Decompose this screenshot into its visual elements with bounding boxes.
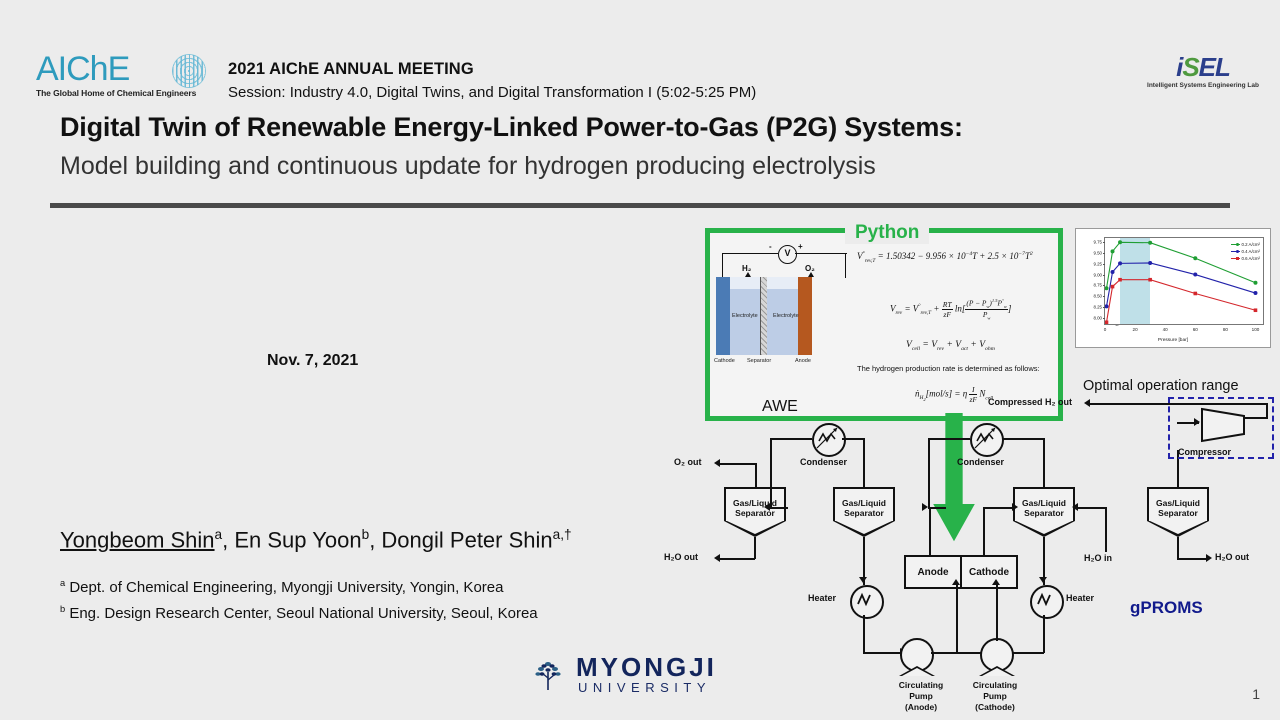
chart-xtick: 100 bbox=[1252, 327, 1260, 332]
chart-xlabel: Pressure [bar] bbox=[1076, 338, 1270, 343]
optimal-range-label: Optimal operation range bbox=[1083, 378, 1239, 394]
line-heater-left-to-pump bbox=[863, 652, 901, 654]
chart-xtick: 40 bbox=[1163, 327, 1168, 332]
separator-left-line2: Separator bbox=[726, 508, 784, 518]
author-sep-1: , bbox=[222, 527, 234, 552]
chart-marker bbox=[1193, 292, 1197, 296]
label-h2o-out-left: H₂O out bbox=[664, 552, 698, 562]
line-heater-right-to-pump bbox=[1010, 652, 1044, 654]
author-name-2: En Sup Yoon bbox=[234, 527, 361, 552]
label-condenser-right: Condenser bbox=[957, 457, 1004, 467]
line-heater-left-out bbox=[863, 615, 865, 653]
line-heater-right-in bbox=[1043, 579, 1045, 585]
separator-mid-right: Gas/Liquid Separator bbox=[1013, 487, 1075, 537]
cathode-label: Cathode bbox=[714, 358, 735, 364]
wire-left-top bbox=[722, 253, 778, 254]
label-pump-anode-3: (Anode) bbox=[888, 702, 954, 712]
arrow-compressed-h2 bbox=[1084, 399, 1090, 407]
green-down-arrow-icon bbox=[932, 413, 976, 543]
line-o2-out bbox=[720, 463, 756, 465]
arrow-pump-anode-to-stack bbox=[952, 579, 960, 585]
chart-series-layer bbox=[1105, 238, 1263, 324]
line-cond-left-in bbox=[770, 438, 812, 440]
arrow-h2o-in bbox=[1072, 503, 1078, 511]
cathode-cell: Cathode bbox=[960, 557, 1016, 587]
author-list: Yongbeom Shina, En Sup Yoonb, Dongil Pet… bbox=[60, 527, 572, 553]
label-pump-anode-2: Pump bbox=[888, 691, 954, 701]
chart-marker bbox=[1105, 286, 1109, 290]
cathode-electrode bbox=[716, 277, 730, 355]
gproms-label: gPROMS bbox=[1130, 598, 1203, 618]
chart-ytick: 8.25 bbox=[1093, 304, 1102, 309]
line-cond-right-riser bbox=[928, 438, 930, 508]
affiliation-b: b Eng. Design Research Center, Seoul Nat… bbox=[60, 604, 538, 622]
chart-marker bbox=[1105, 304, 1109, 308]
aiche-logo: AIChE The Global Home of Chemical Engine… bbox=[36, 52, 216, 104]
chart-ytick: 9.25 bbox=[1093, 261, 1102, 266]
line-cathode-up bbox=[983, 507, 985, 555]
label-pump-cathode-1: Circulating bbox=[962, 680, 1028, 690]
line-pump-anode-out bbox=[931, 652, 957, 654]
chart-marker bbox=[1118, 240, 1122, 244]
line-h2o-out-left bbox=[720, 558, 755, 560]
label-heater-right: Heater bbox=[1066, 593, 1094, 603]
chart-marker bbox=[1148, 278, 1152, 282]
chart-xtick: 0 bbox=[1104, 327, 1107, 332]
chart-marker bbox=[1105, 320, 1108, 324]
electrolyser-stack: Anode Cathode bbox=[904, 555, 1018, 589]
slide-header: AIChE The Global Home of Chemical Engine… bbox=[0, 22, 1280, 84]
line-cond-right-to-sep bbox=[1000, 438, 1044, 440]
author-sep-2: , bbox=[369, 527, 381, 552]
affiliation-a-text: Dept. of Chemical Engineering, Myongji U… bbox=[65, 579, 503, 596]
arrow-h2o-out-right bbox=[1206, 554, 1212, 562]
line-anode-up bbox=[929, 507, 931, 555]
session-title: Session: Industry 4.0, Digital Twins, an… bbox=[228, 84, 756, 101]
chart-plot-area: 0.2 A/cm² 0.4 A/cm² 0.6 A/cm² 8.008.258.… bbox=[1104, 237, 1264, 325]
label-compressed-h2-out: Compressed H₂ out bbox=[988, 397, 1072, 407]
compressor-icon bbox=[1198, 405, 1248, 445]
line-comp-out-riser bbox=[1266, 403, 1268, 418]
chart-ytick: 8.50 bbox=[1093, 294, 1102, 299]
separator-right-line1: Gas/Liquid bbox=[1149, 498, 1207, 508]
slide-root: AIChE The Global Home of Chemical Engine… bbox=[0, 0, 1280, 720]
wire-left-down bbox=[722, 253, 723, 278]
chart-xtick: 20 bbox=[1133, 327, 1138, 332]
chart-marker bbox=[1193, 273, 1197, 277]
condenser-left-icon bbox=[812, 423, 846, 457]
line-sep-midright-riser bbox=[1043, 438, 1045, 488]
chart-xtick: 60 bbox=[1193, 327, 1198, 332]
tree-icon bbox=[530, 656, 566, 692]
chart-marker bbox=[1253, 281, 1257, 285]
line-sep-right-down bbox=[1177, 537, 1179, 559]
python-panel-label: Python bbox=[845, 222, 929, 244]
arrow-o2-out bbox=[714, 459, 720, 467]
anode-electrode bbox=[798, 277, 812, 355]
line-cathode-to-sep bbox=[983, 507, 1013, 509]
page-title: Digital Twin of Renewable Energy-Linked … bbox=[60, 112, 963, 143]
line-cond-right-in bbox=[928, 438, 970, 440]
chart-marker bbox=[1193, 256, 1197, 260]
voltmeter-icon: V bbox=[778, 245, 797, 264]
process-flow-diagram: O₂ out Gas/Liquid Separator H₂O out Cond… bbox=[660, 395, 1280, 720]
chart-line-0 bbox=[1107, 242, 1256, 288]
separator-midright-line2: Separator bbox=[1015, 508, 1073, 518]
label-pump-anode-1: Circulating bbox=[888, 680, 954, 690]
separator-midright-line1: Gas/Liquid bbox=[1015, 498, 1073, 508]
label-heater-left: Heater bbox=[808, 593, 836, 603]
wire-right-down bbox=[845, 253, 846, 278]
line-comp-out bbox=[1244, 417, 1268, 419]
chart-ytick: 9.50 bbox=[1093, 251, 1102, 256]
line-pump-anode-riser bbox=[956, 585, 958, 653]
line-pump-cathode-riser bbox=[996, 585, 998, 641]
isel-logo-text: iSEL bbox=[1144, 54, 1262, 80]
chart-marker bbox=[1111, 285, 1115, 289]
chart-xtick: 80 bbox=[1223, 327, 1228, 332]
separator-mid-left: Gas/Liquid Separator bbox=[833, 487, 895, 537]
page-subtitle: Model building and continuous update for… bbox=[60, 152, 876, 181]
line-heater-right-out bbox=[1043, 615, 1045, 653]
separator-midleft-line2: Separator bbox=[835, 508, 893, 518]
aiche-tagline: The Global Home of Chemical Engineers bbox=[36, 88, 216, 98]
line-sep-left-down bbox=[754, 537, 756, 559]
affiliation-b-text: Eng. Design Research Center, Seoul Natio… bbox=[65, 605, 537, 622]
author-sup-1: a bbox=[215, 527, 223, 542]
chart-ytick: 8.00 bbox=[1093, 315, 1102, 320]
author-name-3: Dongil Peter Shin bbox=[381, 527, 552, 552]
isel-logo: iSEL Intelligent Systems Engineering Lab bbox=[1144, 54, 1262, 100]
separator-midleft-line1: Gas/Liquid bbox=[835, 498, 893, 508]
label-pump-cathode-3: (Cathode) bbox=[962, 702, 1028, 712]
label-o2-out: O₂ out bbox=[674, 457, 702, 467]
globe-icon bbox=[172, 54, 206, 88]
separator-label: Separator bbox=[747, 358, 771, 364]
separator-left: Gas/Liquid Separator bbox=[724, 487, 786, 537]
line-cond-left-to-sep bbox=[770, 507, 788, 509]
electrolyte-left-label: Electrolyte bbox=[732, 313, 758, 319]
terminal-plus: + bbox=[798, 242, 803, 251]
chart-marker bbox=[1118, 261, 1122, 265]
label-condenser-left: Condenser bbox=[800, 457, 847, 467]
chart-marker bbox=[1254, 308, 1258, 312]
condenser-right-icon bbox=[970, 423, 1004, 457]
electrolyte-right-label: Electrolyte bbox=[773, 313, 799, 319]
isel-tagline: Intelligent Systems Engineering Lab bbox=[1144, 82, 1262, 89]
line-h2o-in-riser bbox=[1105, 507, 1107, 552]
chart-line-1 bbox=[1107, 263, 1256, 306]
arrow-to-compressor bbox=[1194, 418, 1200, 426]
line-h2o-in bbox=[1078, 507, 1106, 509]
meeting-title: 2021 AIChE ANNUAL MEETING bbox=[228, 60, 474, 79]
terminal-minus: - bbox=[769, 242, 772, 251]
separator-right: Gas/Liquid Separator bbox=[1147, 487, 1209, 537]
line-sep-midleft-down bbox=[863, 537, 865, 579]
title-divider bbox=[50, 203, 1230, 208]
equation-note: The hydrogen production rate is determin… bbox=[857, 364, 1040, 373]
separator-right-line2: Separator bbox=[1149, 508, 1207, 518]
label-h2o-in: H₂O in bbox=[1084, 553, 1112, 563]
line-compressed-h2 bbox=[1090, 403, 1268, 405]
chart-ytick: 9.00 bbox=[1093, 272, 1102, 277]
electrolyser-cell: Electrolyte Electrolyte bbox=[716, 277, 812, 355]
line-h2o-out-right bbox=[1177, 558, 1207, 560]
arrow-sep-midleft-in bbox=[922, 503, 928, 511]
label-compressor: Compressor bbox=[1178, 447, 1231, 457]
chart-marker bbox=[1253, 291, 1257, 295]
line-cond-left-down bbox=[770, 438, 772, 508]
chart-marker bbox=[1111, 270, 1115, 274]
presentation-date: Nov. 7, 2021 bbox=[267, 352, 358, 370]
chart-ytick: 8.75 bbox=[1093, 283, 1102, 288]
equation-vrev: Vrev = V°rev,T + RTzF ln[ (P − Pw)1.5P°w… bbox=[890, 298, 1011, 320]
author-name-1: Yongbeom Shin bbox=[60, 527, 215, 552]
chart-marker bbox=[1118, 278, 1122, 282]
wire-right-top bbox=[795, 253, 847, 254]
equation-vcell: Vcell = Vrev + Vact + Vohm bbox=[906, 340, 995, 352]
chart-marker bbox=[1111, 249, 1115, 253]
hydrogen-rate-chart: Hydrogen Production rate per kW [mol/h] … bbox=[1075, 228, 1271, 348]
pump-cathode-icon bbox=[980, 638, 1014, 672]
chart-marker bbox=[1148, 261, 1152, 265]
author-sup-3: a,† bbox=[553, 527, 572, 542]
line-cond-left-right bbox=[842, 438, 864, 440]
line-sep-midright-down bbox=[1043, 537, 1045, 579]
arrow-h2o-out-left bbox=[714, 554, 720, 562]
label-pump-cathode-2: Pump bbox=[962, 691, 1028, 701]
affiliation-a: a Dept. of Chemical Engineering, Myongji… bbox=[60, 578, 503, 596]
line-heater-left-in bbox=[863, 579, 865, 585]
line-o2-riser bbox=[755, 463, 757, 489]
chart-marker bbox=[1148, 241, 1152, 245]
line-pump-cathode-in bbox=[956, 652, 982, 654]
arrow-pump-cathode-to-stack bbox=[992, 579, 1000, 585]
label-h2o-out-right: H₂O out bbox=[1215, 552, 1249, 562]
chart-ytick: 9.75 bbox=[1093, 240, 1102, 245]
heater-left-icon bbox=[850, 585, 884, 619]
pump-anode-icon bbox=[900, 638, 934, 672]
anode-label: Anode bbox=[795, 358, 811, 364]
heater-right-icon bbox=[1030, 585, 1064, 619]
equation-vrev-t: V°rev,T = 1.50342 − 9.956 × 10−4T + 2.5 … bbox=[857, 251, 1033, 264]
arrow-cathode-to-sep bbox=[1012, 503, 1018, 511]
arrow-cond-left-to-sep bbox=[764, 503, 770, 511]
